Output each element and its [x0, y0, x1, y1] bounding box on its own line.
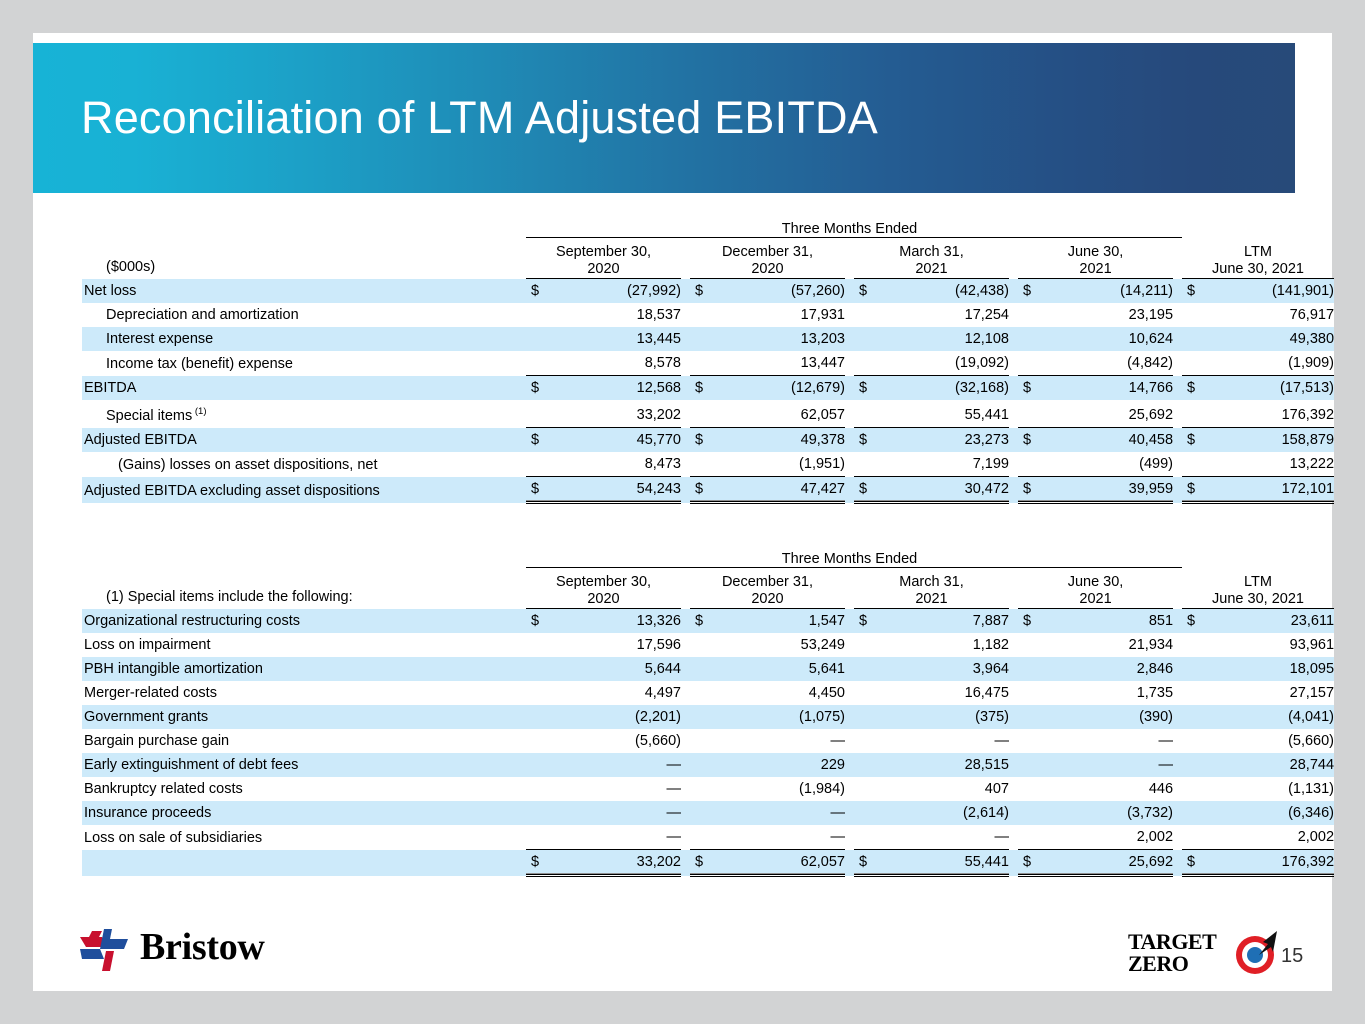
- cell-value: 229: [690, 753, 845, 777]
- cell-value: 93,961: [1182, 633, 1334, 657]
- currency-symbol: $: [1023, 609, 1031, 633]
- row-label: Bankruptcy related costs: [82, 777, 526, 801]
- currency-symbol: $: [859, 279, 867, 303]
- table-row: Depreciation and amortization18,53717,93…: [82, 303, 1334, 327]
- column-header-line-2: 2021: [854, 261, 1009, 278]
- spacer-cell: [1173, 543, 1182, 568]
- table-row: Net loss$(27,992)$(57,260)$(42,438)$(14,…: [82, 279, 1334, 304]
- column-gap: [845, 428, 854, 453]
- cell-value: (5,660): [526, 729, 681, 753]
- cell-value: $1,547: [690, 609, 845, 634]
- cell-value: (2,201): [526, 705, 681, 729]
- cell-value: $(17,513): [1182, 376, 1334, 401]
- currency-symbol: $: [531, 477, 539, 501]
- cell-value: 5,644: [526, 657, 681, 681]
- column-gap: [1173, 303, 1182, 327]
- table-row: (Gains) losses on asset dispositions, ne…: [82, 452, 1334, 477]
- table-row: PBH intangible amortization5,6445,6413,9…: [82, 657, 1334, 681]
- column-gap: [1009, 633, 1018, 657]
- column-gap: [1173, 238, 1182, 279]
- column-gap: [1009, 777, 1018, 801]
- column-gap: [1173, 279, 1182, 304]
- column-gap: [845, 825, 854, 850]
- column-gap: [845, 400, 854, 428]
- cell-value: $(57,260): [690, 279, 845, 304]
- cell-value: $23,273: [854, 428, 1009, 453]
- cell-value: $12,568: [526, 376, 681, 401]
- cell-value: 4,497: [526, 681, 681, 705]
- column-gap: [845, 729, 854, 753]
- currency-symbol: $: [531, 428, 539, 452]
- group-header-label: Three Months Ended: [526, 213, 1173, 238]
- column-gap: [1009, 729, 1018, 753]
- special-items-table: Three Months Ended(1) Special items incl…: [82, 543, 1334, 877]
- group-header-label: Three Months Ended: [526, 543, 1173, 568]
- cell-value: 13,222: [1182, 452, 1334, 477]
- cell-value: —: [690, 825, 845, 850]
- currency-symbol: $: [695, 850, 703, 874]
- column-gap: [845, 777, 854, 801]
- column-gap: [681, 376, 690, 401]
- cell-value: —: [526, 777, 681, 801]
- column-gap: [845, 477, 854, 503]
- cell-value: $(27,992): [526, 279, 681, 304]
- row-label: Adjusted EBITDA excluding asset disposit…: [82, 477, 526, 503]
- row-label: Net loss: [82, 279, 526, 304]
- column-gap: [1009, 400, 1018, 428]
- row-label: Merger-related costs: [82, 681, 526, 705]
- column-gap: [681, 801, 690, 825]
- slide-canvas: Reconciliation of LTM Adjusted EBITDA Th…: [33, 33, 1332, 991]
- footnote-marker: (1): [192, 406, 206, 417]
- cell-value: $54,243: [526, 477, 681, 503]
- row-label: Early extinguishment of debt fees: [82, 753, 526, 777]
- column-header-5: LTMJune 30, 2021: [1182, 238, 1334, 279]
- column-gap: [1009, 850, 1018, 876]
- column-gap: [845, 609, 854, 634]
- currency-symbol: $: [531, 850, 539, 874]
- column-gap: [1009, 452, 1018, 477]
- column-gap: [845, 279, 854, 304]
- column-gap: [1009, 609, 1018, 634]
- column-gap: [1173, 609, 1182, 634]
- page-number: 15: [1281, 945, 1303, 968]
- cell-value: $176,392: [1182, 850, 1334, 876]
- cell-value: —: [526, 825, 681, 850]
- table-row: Loss on impairment17,59653,2491,18221,93…: [82, 633, 1334, 657]
- cell-value: $33,202: [526, 850, 681, 876]
- cell-value: 17,596: [526, 633, 681, 657]
- column-header-line-1: June 30,: [1018, 244, 1173, 261]
- row-label: Insurance proceeds: [82, 801, 526, 825]
- cell-value: $45,770: [526, 428, 681, 453]
- currency-symbol: $: [531, 376, 539, 400]
- column-gap: [681, 238, 690, 279]
- column-gap: [845, 633, 854, 657]
- column-gap: [681, 477, 690, 503]
- column-header-2: December 31,2020: [690, 238, 845, 279]
- cell-value: (1,909): [1182, 351, 1334, 376]
- column-header-line-1: March 31,: [854, 244, 1009, 261]
- table-row: Special items (1)33,20262,05755,44125,69…: [82, 400, 1334, 428]
- spacer-cell: [1182, 213, 1334, 238]
- column-gap: [1173, 850, 1182, 876]
- row-label: Special items (1): [82, 400, 526, 428]
- cell-value: 5,641: [690, 657, 845, 681]
- cell-value: 8,473: [526, 452, 681, 477]
- currency-symbol: $: [859, 376, 867, 400]
- column-gap: [1173, 705, 1182, 729]
- currency-symbol: $: [859, 609, 867, 633]
- cell-value: 49,380: [1182, 327, 1334, 351]
- cell-value: 3,964: [854, 657, 1009, 681]
- cell-value: 13,447: [690, 351, 845, 376]
- cell-value: (1,075): [690, 705, 845, 729]
- cell-value: $49,378: [690, 428, 845, 453]
- column-gap: [1009, 477, 1018, 503]
- table-row: Interest expense13,44513,20312,10810,624…: [82, 327, 1334, 351]
- cell-value: (2,614): [854, 801, 1009, 825]
- bristow-wordmark: Bristow: [140, 925, 265, 969]
- column-header-1: September 30,2020: [526, 568, 681, 609]
- column-gap: [681, 850, 690, 876]
- cell-value: (1,984): [690, 777, 845, 801]
- column-gap: [1173, 633, 1182, 657]
- column-gap: [845, 452, 854, 477]
- cell-value: (6,346): [1182, 801, 1334, 825]
- column-gap: [681, 303, 690, 327]
- column-gap: [845, 705, 854, 729]
- currency-symbol: $: [1187, 279, 1195, 303]
- column-gap: [681, 705, 690, 729]
- cell-value: (4,842): [1018, 351, 1173, 376]
- column-header-line-1: June 30,: [1018, 574, 1173, 591]
- column-header-line-1: December 31,: [690, 574, 845, 591]
- table-row: Bankruptcy related costs—(1,984)407446(1…: [82, 777, 1334, 801]
- table-row: Organizational restructuring costs$13,32…: [82, 609, 1334, 634]
- column-header-line-2: 2020: [690, 261, 845, 278]
- cell-value: (19,092): [854, 351, 1009, 376]
- column-gap: [845, 801, 854, 825]
- spacer-cell: [82, 543, 526, 568]
- column-header-line-2: 2020: [526, 591, 681, 608]
- title-banner: Reconciliation of LTM Adjusted EBITDA: [33, 43, 1295, 193]
- column-header-line-1: LTM: [1182, 574, 1334, 591]
- target-zero-wordmark: TARGET ZERO: [1128, 931, 1216, 975]
- bristow-pinwheel-icon: [78, 927, 130, 975]
- column-gap: [681, 681, 690, 705]
- cell-value: —: [854, 729, 1009, 753]
- row-label: EBITDA: [82, 376, 526, 401]
- row-label: Adjusted EBITDA: [82, 428, 526, 453]
- table-row: Adjusted EBITDA excluding asset disposit…: [82, 477, 1334, 503]
- cell-value: 10,624: [1018, 327, 1173, 351]
- column-gap: [1009, 238, 1018, 279]
- cell-value: $40,458: [1018, 428, 1173, 453]
- cell-value: 17,254: [854, 303, 1009, 327]
- table-group-header-row: Three Months Ended: [82, 213, 1334, 238]
- cell-value: —: [854, 825, 1009, 850]
- column-gap: [845, 753, 854, 777]
- column-gap: [1173, 568, 1182, 609]
- label-column-header: ($000s): [82, 238, 526, 279]
- cell-value: $39,959: [1018, 477, 1173, 503]
- column-gap: [681, 400, 690, 428]
- column-header-line-2: June 30, 2021: [1182, 261, 1334, 278]
- target-zero-logo: TARGET ZERO: [1128, 931, 1278, 981]
- column-gap: [1173, 452, 1182, 477]
- cell-value: $172,101: [1182, 477, 1334, 503]
- currency-symbol: $: [695, 376, 703, 400]
- cell-value: 1,735: [1018, 681, 1173, 705]
- spacer-cell: [82, 213, 526, 238]
- cell-value: $55,441: [854, 850, 1009, 876]
- cell-value: —: [690, 801, 845, 825]
- column-gap: [1173, 428, 1182, 453]
- column-header-line-2: 2021: [854, 591, 1009, 608]
- column-gap: [681, 753, 690, 777]
- column-gap: [681, 428, 690, 453]
- column-gap: [681, 568, 690, 609]
- column-gap: [681, 657, 690, 681]
- column-header-3: March 31,2021: [854, 568, 1009, 609]
- row-label: Interest expense: [82, 327, 526, 351]
- column-gap: [1173, 777, 1182, 801]
- column-gap: [1009, 681, 1018, 705]
- cell-value: (5,660): [1182, 729, 1334, 753]
- table-row: Income tax (benefit) expense8,57813,447(…: [82, 351, 1334, 376]
- column-gap: [845, 303, 854, 327]
- currency-symbol: $: [1187, 376, 1195, 400]
- cell-value: 27,157: [1182, 681, 1334, 705]
- column-gap: [1173, 825, 1182, 850]
- cell-value: 76,917: [1182, 303, 1334, 327]
- column-gap: [1173, 351, 1182, 376]
- cell-value: $25,692: [1018, 850, 1173, 876]
- cell-value: $14,766: [1018, 376, 1173, 401]
- row-label: Income tax (benefit) expense: [82, 351, 526, 376]
- column-gap: [1173, 801, 1182, 825]
- column-gap: [1173, 729, 1182, 753]
- cell-value: 23,195: [1018, 303, 1173, 327]
- column-gap: [1009, 801, 1018, 825]
- cell-value: $(32,168): [854, 376, 1009, 401]
- currency-symbol: $: [1187, 850, 1195, 874]
- cell-value: 446: [1018, 777, 1173, 801]
- spacer-cell: [1182, 543, 1334, 568]
- bristow-logo: Bristow: [78, 923, 308, 979]
- column-header-3: March 31,2021: [854, 238, 1009, 279]
- currency-symbol: $: [1023, 477, 1031, 501]
- table-column-header-row: (1) Special items include the following:…: [82, 568, 1334, 609]
- cell-value: 62,057: [690, 400, 845, 428]
- cell-value: 25,692: [1018, 400, 1173, 428]
- column-gap: [1009, 376, 1018, 401]
- cell-value: 21,934: [1018, 633, 1173, 657]
- column-header-line-1: September 30,: [526, 574, 681, 591]
- column-gap: [1173, 681, 1182, 705]
- row-label: Government grants: [82, 705, 526, 729]
- table-row: Adjusted EBITDA$45,770$49,378$23,273$40,…: [82, 428, 1334, 453]
- column-gap: [845, 376, 854, 401]
- cell-value: (390): [1018, 705, 1173, 729]
- row-label: Organizational restructuring costs: [82, 609, 526, 634]
- currency-symbol: $: [1187, 609, 1195, 633]
- column-gap: [681, 452, 690, 477]
- column-header-line-2: 2020: [690, 591, 845, 608]
- column-gap: [1009, 327, 1018, 351]
- cell-value: 16,475: [854, 681, 1009, 705]
- cell-value: 28,515: [854, 753, 1009, 777]
- cell-value: 2,846: [1018, 657, 1173, 681]
- cell-value: 4,450: [690, 681, 845, 705]
- cell-value: 407: [854, 777, 1009, 801]
- page-title: Reconciliation of LTM Adjusted EBITDA: [81, 92, 878, 144]
- column-gap: [1009, 825, 1018, 850]
- cell-value: (499): [1018, 452, 1173, 477]
- cell-value: (3,732): [1018, 801, 1173, 825]
- table1-body: Three Months Ended($000s)September 30,20…: [82, 213, 1334, 503]
- column-header-line-2: 2020: [526, 261, 681, 278]
- target-zero-line-1: TARGET: [1128, 931, 1216, 953]
- column-gap: [845, 568, 854, 609]
- column-header-line-2: 2021: [1018, 261, 1173, 278]
- cell-value: —: [526, 801, 681, 825]
- column-gap: [845, 238, 854, 279]
- cell-value: $62,057: [690, 850, 845, 876]
- column-header-line-1: LTM: [1182, 244, 1334, 261]
- currency-symbol: $: [531, 609, 539, 633]
- cell-value: 55,441: [854, 400, 1009, 428]
- cell-value: —: [526, 753, 681, 777]
- currency-symbol: $: [695, 609, 703, 633]
- column-header-line-1: March 31,: [854, 574, 1009, 591]
- currency-symbol: $: [1023, 850, 1031, 874]
- column-header-line-2: June 30, 2021: [1182, 591, 1334, 608]
- cell-value: 12,108: [854, 327, 1009, 351]
- column-gap: [1173, 753, 1182, 777]
- label-column-header: (1) Special items include the following:: [82, 568, 526, 609]
- row-label: (Gains) losses on asset dispositions, ne…: [82, 452, 526, 477]
- currency-symbol: $: [531, 279, 539, 303]
- column-header-line-1: December 31,: [690, 244, 845, 261]
- currency-symbol: $: [859, 850, 867, 874]
- currency-symbol: $: [695, 428, 703, 452]
- column-gap: [681, 351, 690, 376]
- table-row: EBITDA$12,568$(12,679)$(32,168)$14,766$(…: [82, 376, 1334, 401]
- currency-symbol: $: [859, 428, 867, 452]
- column-gap: [1173, 477, 1182, 503]
- cell-value: 18,537: [526, 303, 681, 327]
- column-gap: [1009, 279, 1018, 304]
- table-row: Loss on sale of subsidiaries———2,0022,00…: [82, 825, 1334, 850]
- cell-value: 18,095: [1182, 657, 1334, 681]
- cell-value: (375): [854, 705, 1009, 729]
- column-gap: [1173, 657, 1182, 681]
- row-label: [82, 850, 526, 876]
- cell-value: 7,199: [854, 452, 1009, 477]
- column-gap: [845, 850, 854, 876]
- cell-value: (1,951): [690, 452, 845, 477]
- row-label: PBH intangible amortization: [82, 657, 526, 681]
- cell-value: $(42,438): [854, 279, 1009, 304]
- column-gap: [681, 825, 690, 850]
- column-gap: [845, 327, 854, 351]
- cell-value: $23,611: [1182, 609, 1334, 634]
- cell-value: 1,182: [854, 633, 1009, 657]
- cell-value: 2,002: [1018, 825, 1173, 850]
- column-gap: [845, 351, 854, 376]
- cell-value: $158,879: [1182, 428, 1334, 453]
- cell-value: 2,002: [1182, 825, 1334, 850]
- column-header-4: June 30,2021: [1018, 568, 1173, 609]
- column-gap: [1009, 568, 1018, 609]
- cell-value: 33,202: [526, 400, 681, 428]
- table2-body: Three Months Ended(1) Special items incl…: [82, 543, 1334, 876]
- target-zero-line-2: ZERO: [1128, 953, 1216, 975]
- currency-symbol: $: [1023, 279, 1031, 303]
- cell-value: 13,445: [526, 327, 681, 351]
- column-gap: [1173, 327, 1182, 351]
- row-label: Loss on impairment: [82, 633, 526, 657]
- currency-symbol: $: [1187, 477, 1195, 501]
- column-header-line-1: September 30,: [526, 244, 681, 261]
- table-group-header-row: Three Months Ended: [82, 543, 1334, 568]
- column-gap: [1009, 705, 1018, 729]
- cell-value: 176,392: [1182, 400, 1334, 428]
- cell-value: —: [1018, 753, 1173, 777]
- table-column-header-row: ($000s)September 30,2020December 31,2020…: [82, 238, 1334, 279]
- row-label: Depreciation and amortization: [82, 303, 526, 327]
- table-row: Merger-related costs4,4974,45016,4751,73…: [82, 681, 1334, 705]
- table-row: Government grants(2,201)(1,075)(375)(390…: [82, 705, 1334, 729]
- cell-value: $47,427: [690, 477, 845, 503]
- cell-value: —: [1018, 729, 1173, 753]
- cell-value: 13,203: [690, 327, 845, 351]
- column-gap: [1009, 351, 1018, 376]
- cell-value: $30,472: [854, 477, 1009, 503]
- column-gap: [1009, 428, 1018, 453]
- cell-value: —: [690, 729, 845, 753]
- currency-symbol: $: [695, 477, 703, 501]
- column-header-2: December 31,2020: [690, 568, 845, 609]
- column-header-line-2: 2021: [1018, 591, 1173, 608]
- cell-value: 17,931: [690, 303, 845, 327]
- column-gap: [681, 609, 690, 634]
- column-gap: [1009, 303, 1018, 327]
- column-gap: [845, 681, 854, 705]
- column-gap: [681, 633, 690, 657]
- column-gap: [845, 657, 854, 681]
- ebitda-reconciliation-table: Three Months Ended($000s)September 30,20…: [82, 213, 1334, 504]
- column-header-5: LTMJune 30, 2021: [1182, 568, 1334, 609]
- cell-value: $(14,211): [1018, 279, 1173, 304]
- column-gap: [1173, 400, 1182, 428]
- cell-value: $851: [1018, 609, 1173, 634]
- column-gap: [1173, 376, 1182, 401]
- cell-value: (1,131): [1182, 777, 1334, 801]
- cell-value: $(12,679): [690, 376, 845, 401]
- column-gap: [681, 777, 690, 801]
- column-gap: [681, 327, 690, 351]
- column-gap: [681, 279, 690, 304]
- column-header-4: June 30,2021: [1018, 238, 1173, 279]
- cell-value: $(141,901): [1182, 279, 1334, 304]
- cell-value: 53,249: [690, 633, 845, 657]
- target-bullseye-icon: [1233, 929, 1281, 977]
- cell-value: (4,041): [1182, 705, 1334, 729]
- column-gap: [1009, 753, 1018, 777]
